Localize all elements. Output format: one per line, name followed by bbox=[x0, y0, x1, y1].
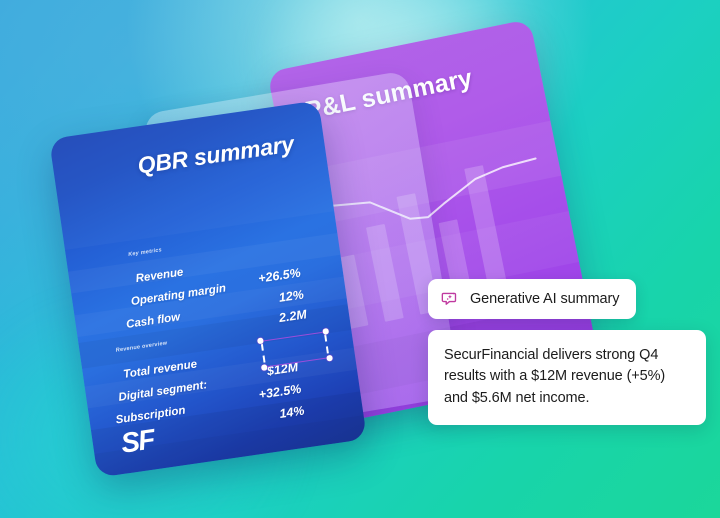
selection-edge-left bbox=[261, 344, 264, 351]
ai-summary-text: SecurFinancial delivers strong Q4 result… bbox=[444, 345, 690, 409]
chat-sparkle-icon bbox=[441, 290, 460, 309]
selection-handle-bottom-left[interactable] bbox=[261, 365, 267, 371]
selection-handle-top-left[interactable] bbox=[257, 338, 263, 344]
card-qbr-summary[interactable]: QBR summary Key metrics Revenue Operatin… bbox=[49, 100, 367, 477]
selection-handle-top-right[interactable] bbox=[323, 328, 329, 334]
generative-ai-summary-button[interactable]: Generative AI summary bbox=[428, 279, 636, 319]
screenshot-canvas: P&L summary 120 150 QBR summary Key metr… bbox=[0, 0, 720, 518]
ai-summary-panel: SecurFinancial delivers strong Q4 result… bbox=[428, 330, 706, 425]
generative-ai-summary-label: Generative AI summary bbox=[470, 291, 619, 307]
securfinancial-logo: SF bbox=[119, 425, 155, 457]
section-label-key-metrics: Key metrics bbox=[128, 247, 162, 258]
selection-edge-left bbox=[263, 355, 266, 362]
selection-handle-bottom-right[interactable] bbox=[327, 355, 333, 361]
